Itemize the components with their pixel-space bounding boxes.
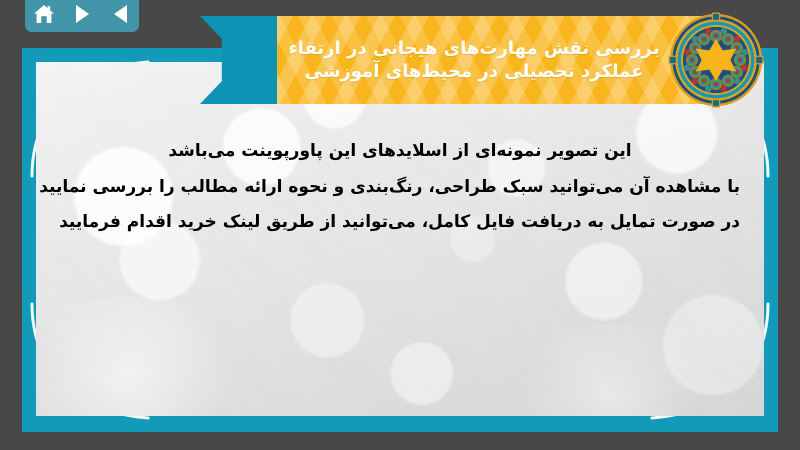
title-line-2: عملکرد تحصیلی در محیط‌های آموزشی xyxy=(305,60,644,83)
next-button[interactable] xyxy=(68,1,96,27)
slide-root: این تصویر نمونه‌ای از اسلایدهای این پاور… xyxy=(0,0,800,450)
title-line-1: بررسی نقش مهارت‌های هیجانی در ارتقاء xyxy=(288,37,659,60)
triangle-left-icon xyxy=(114,5,127,23)
body-line-3: در صورت تمایل به دریافت فایل کامل، می‌تو… xyxy=(60,205,740,241)
title-banner: بررسی نقش مهارت‌های هیجانی در ارتقاء عمل… xyxy=(200,16,715,104)
banner-arrow-tab xyxy=(200,16,278,104)
persian-medallion-icon xyxy=(668,12,764,108)
body-line-2: با مشاهده آن می‌توانید سبک طراحی، رنگ‌بن… xyxy=(60,170,740,206)
body-line-1: این تصویر نمونه‌ای از اسلایدهای این پاور… xyxy=(60,134,740,170)
home-icon xyxy=(33,4,55,25)
previous-button[interactable] xyxy=(106,1,134,27)
navigation-toolbar[interactable] xyxy=(25,0,139,32)
page-title: بررسی نقش مهارت‌های هیجانی در ارتقاء عمل… xyxy=(277,16,715,104)
triangle-right-icon xyxy=(76,5,89,23)
slide-content-area: این تصویر نمونه‌ای از اسلایدهای این پاور… xyxy=(36,62,764,416)
slide-body-text: این تصویر نمونه‌ای از اسلایدهای این پاور… xyxy=(36,134,764,241)
slide-frame: این تصویر نمونه‌ای از اسلایدهای این پاور… xyxy=(22,48,778,432)
bokeh-glow xyxy=(36,296,254,416)
bokeh-glow xyxy=(502,324,720,416)
banner-body: بررسی نقش مهارت‌های هیجانی در ارتقاء عمل… xyxy=(277,16,715,104)
home-button[interactable] xyxy=(30,1,58,27)
